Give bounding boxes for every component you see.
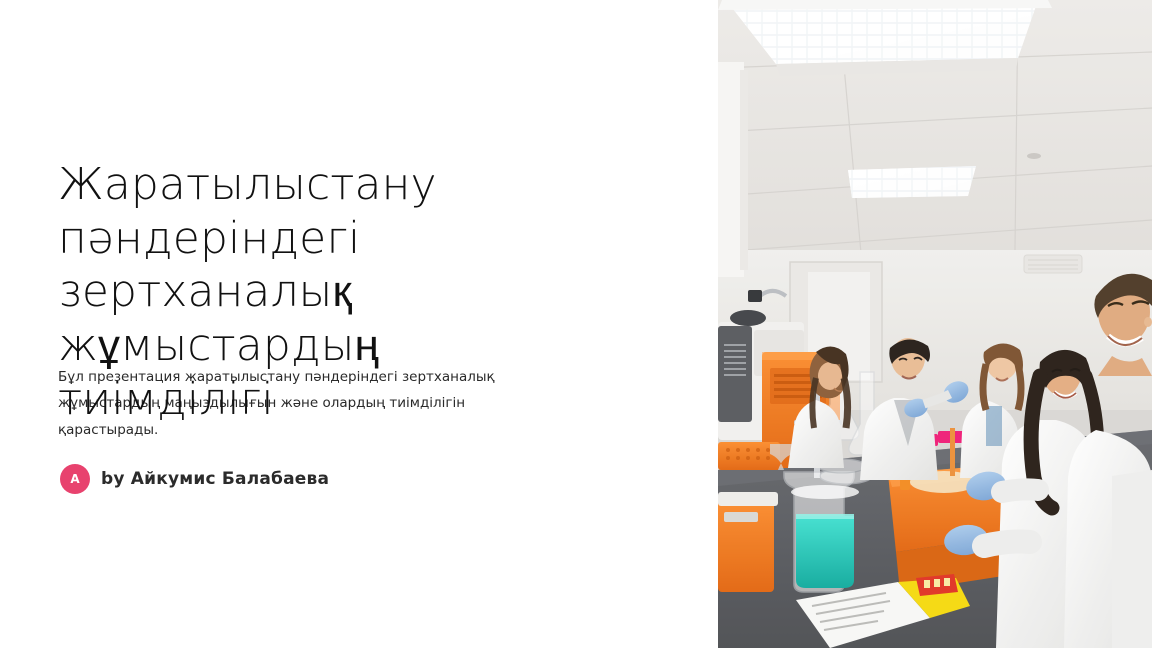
subtitle-line: Бұл презентация жаратылыстану пәндерінде… <box>58 364 658 390</box>
presentation-slide: Жаратылыстану пәндеріндегі зертханалық ж… <box>0 0 1152 648</box>
author-name: by Айкумис Балабаева <box>101 469 329 489</box>
subtitle-paragraph: Бұл презентация жаратылыстану пәндерінде… <box>58 364 658 443</box>
avatar: A <box>60 464 90 494</box>
subtitle-line: жұмыстардың маңыздылығын және олардың ти… <box>58 390 658 416</box>
text-panel: Жаратылыстану пәндеріндегі зертханалық ж… <box>0 0 718 648</box>
subtitle-line: қарастырады. <box>58 417 658 443</box>
author-byline: A by Айкумис Балабаева <box>60 464 329 494</box>
title-line: пәндеріндегі <box>58 212 528 266</box>
title-line: зертханалық <box>58 265 528 319</box>
title-line: Жаратылыстану <box>58 158 528 212</box>
laboratory-students-photo <box>718 0 1152 648</box>
